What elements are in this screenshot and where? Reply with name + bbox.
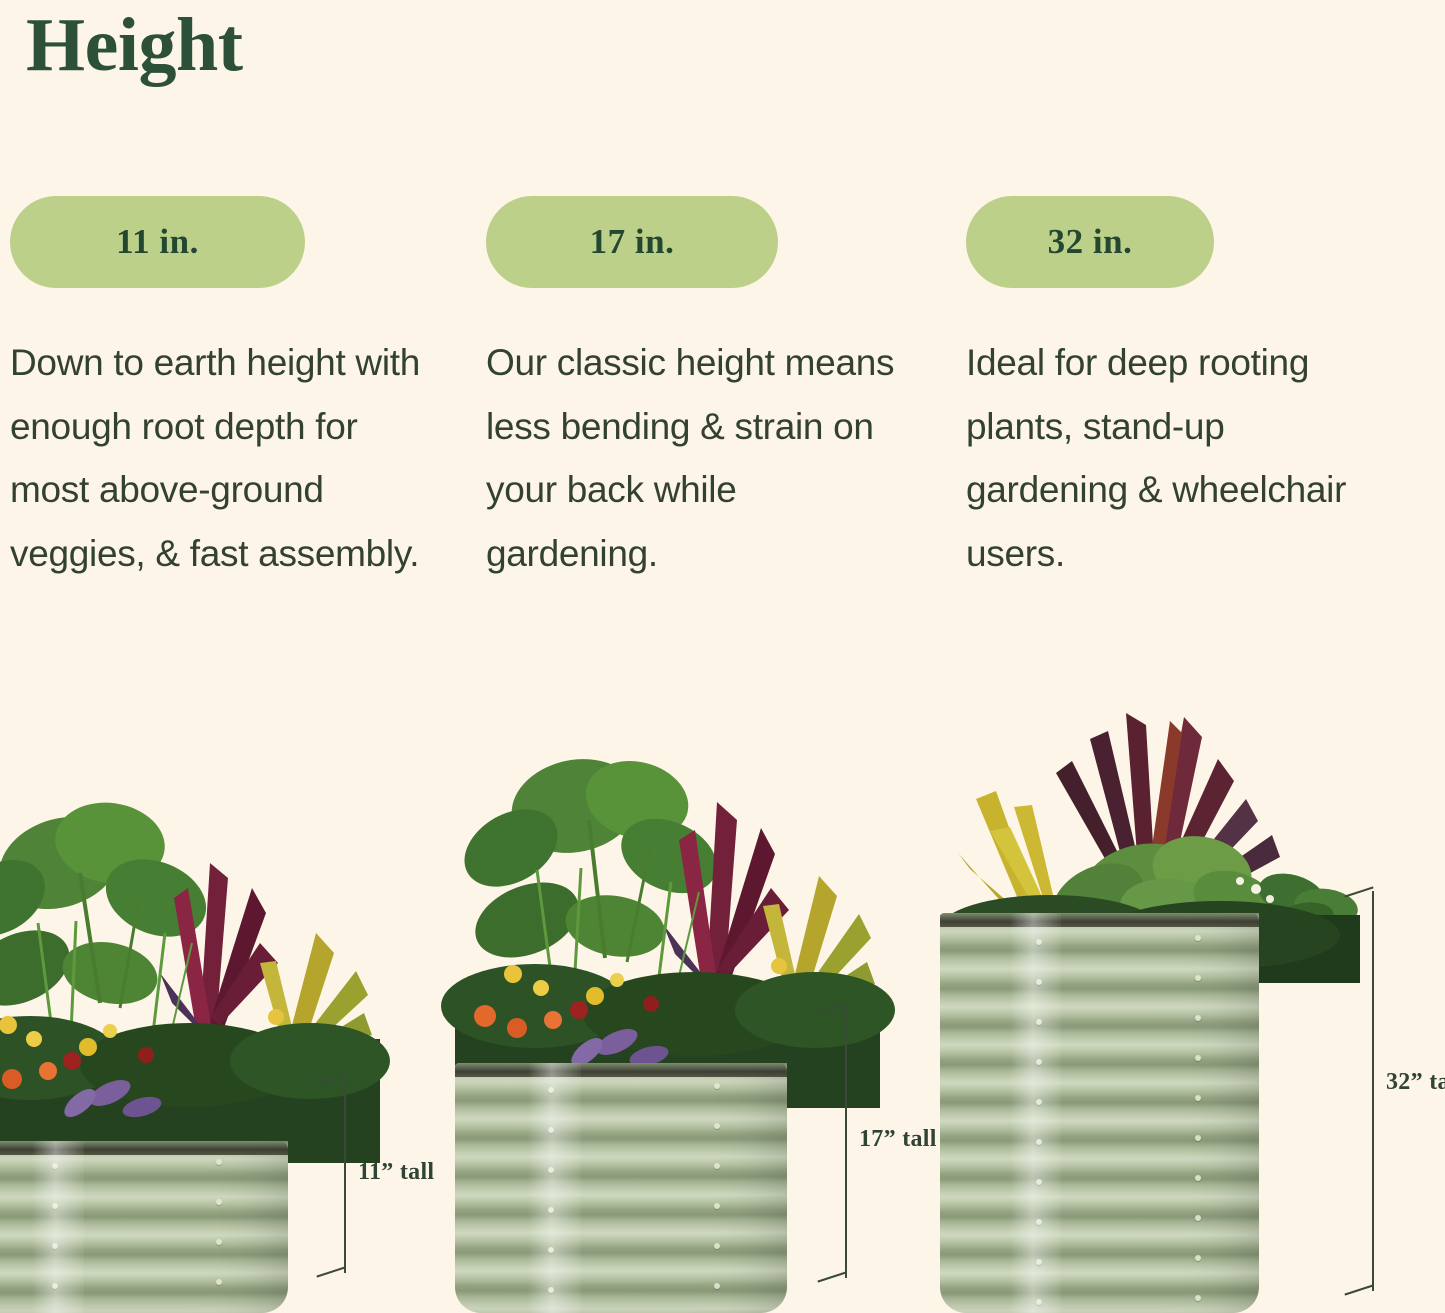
planter-rim-11in <box>0 1141 288 1155</box>
planter-image-32in: 32” tall <box>940 726 1360 1313</box>
planter-rivets-17in <box>455 1063 787 1313</box>
height-badge-32in[interactable]: 32 in. <box>966 196 1214 288</box>
planter-rim-17in <box>455 1063 787 1077</box>
planter-bed-17in <box>455 1063 880 1313</box>
planter-image-11in: 11” tall <box>0 726 380 1313</box>
planter-image-row: 11” tall <box>0 726 1445 1313</box>
dimension-label-32in: 32” tall <box>1386 1069 1445 1096</box>
dimension-label-17in: 17” tall <box>859 1126 937 1153</box>
height-badge-11in[interactable]: 11 in. <box>10 196 305 288</box>
dimension-line-11in <box>344 1079 346 1273</box>
height-option-11in: 11 in. Down to earth height with enough … <box>10 196 440 586</box>
dimension-tick-top-11in <box>316 1074 345 1085</box>
dimension-tick-top-32in <box>1344 886 1373 897</box>
planter-bed-32in <box>940 913 1360 1313</box>
page-title: Height <box>26 6 243 86</box>
planter-rivets-32in <box>940 913 1259 1313</box>
height-description-17in: Our classic height means less bending & … <box>486 331 906 586</box>
planter-front-face-17in <box>455 1063 787 1313</box>
dimension-label-11in: 11” tall <box>358 1159 434 1186</box>
foliage-11in <box>0 803 380 1163</box>
height-option-32in: 32 in. Ideal for deep rooting plants, st… <box>966 196 1376 586</box>
planter-rim-32in <box>940 913 1259 927</box>
planter-front-face-11in <box>0 1141 288 1313</box>
planter-rivets-11in <box>0 1141 288 1313</box>
planter-image-17in: 17” tall <box>455 726 880 1313</box>
dimension-line-17in <box>845 1008 847 1278</box>
dimension-line-32in <box>1372 891 1374 1291</box>
dimension-tick-top-17in <box>817 1003 846 1014</box>
planter-front-face-32in <box>940 913 1259 1313</box>
foliage-17in <box>455 748 880 1108</box>
height-description-11in: Down to earth height with enough root de… <box>10 331 440 586</box>
height-badge-17in[interactable]: 17 in. <box>486 196 778 288</box>
planter-bed-11in <box>0 1141 380 1313</box>
height-description-32in: Ideal for deep rooting plants, stand-up … <box>966 331 1376 586</box>
height-option-17in: 17 in. Our classic height means less ben… <box>486 196 906 586</box>
height-options-columns: 11 in. Down to earth height with enough … <box>0 196 1445 726</box>
